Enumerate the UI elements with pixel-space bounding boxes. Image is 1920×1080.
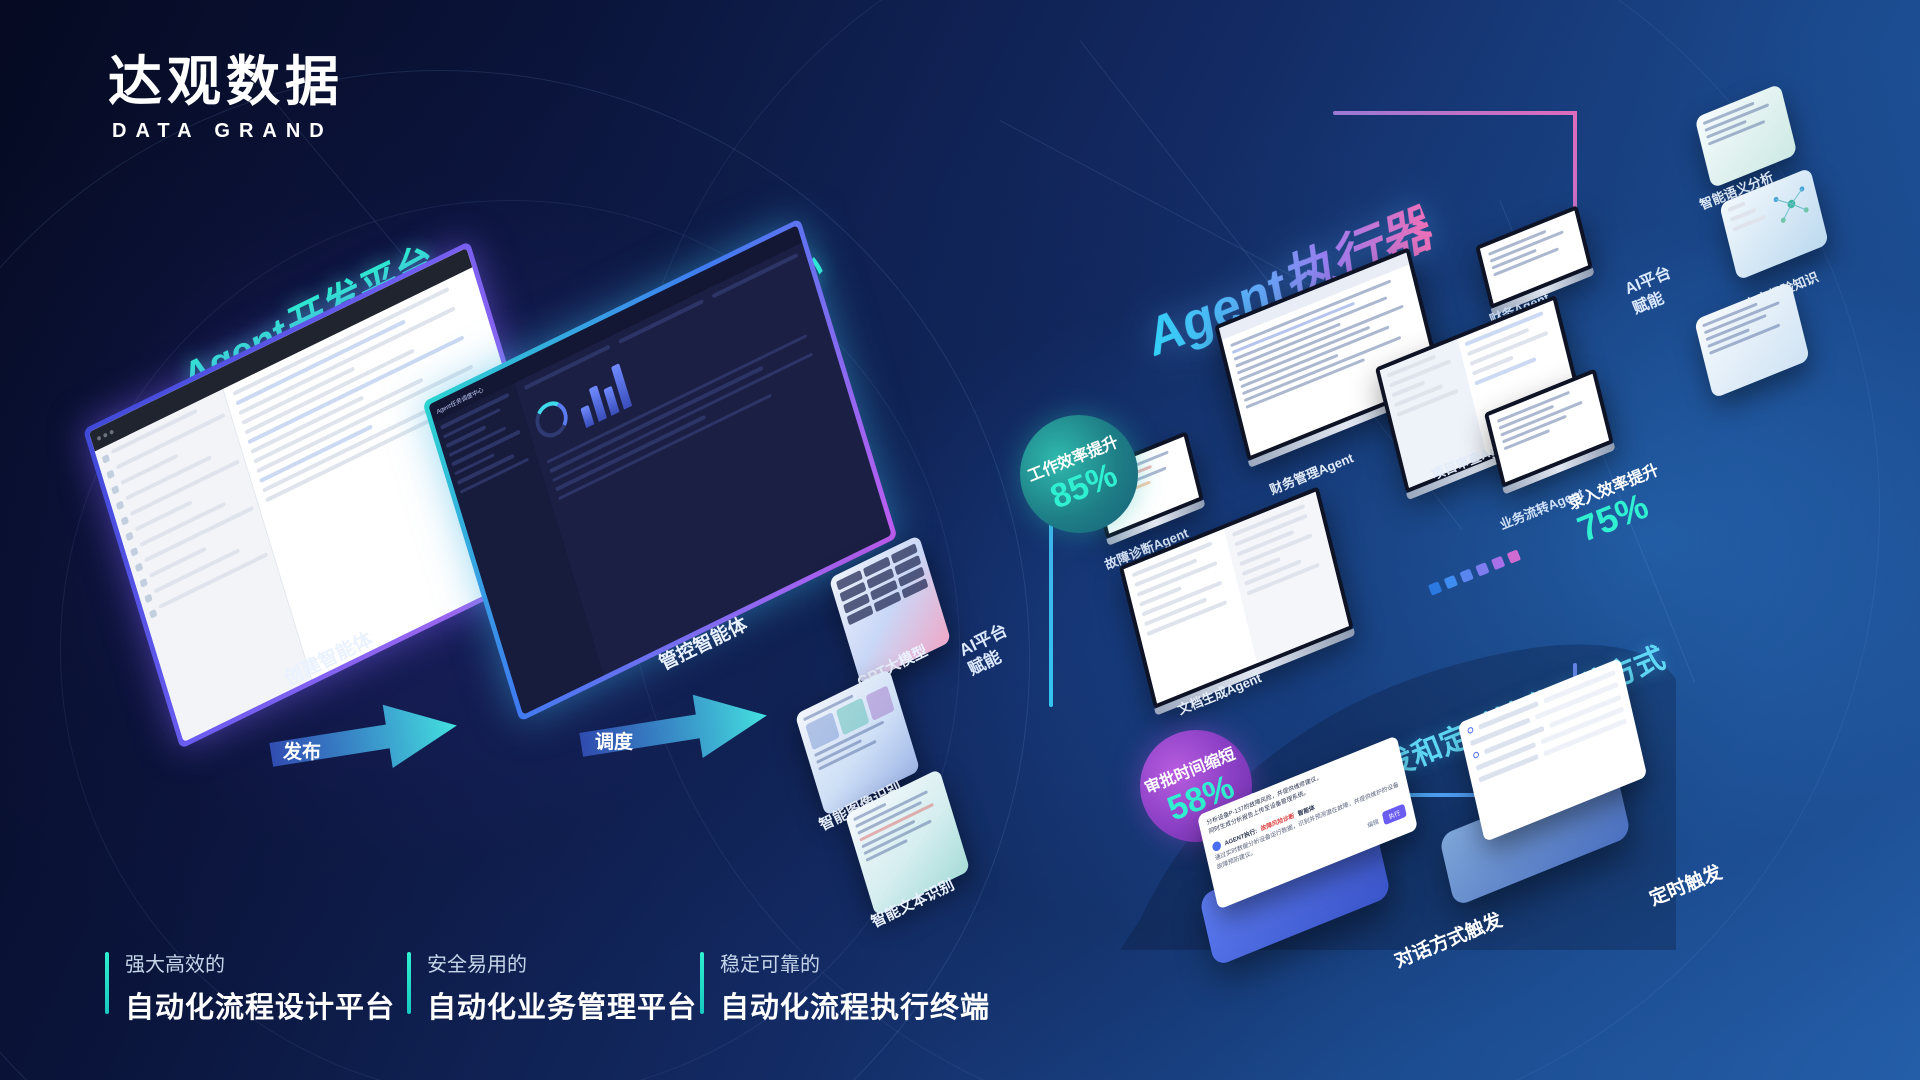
knowledge-graph-icon (1768, 177, 1815, 231)
item-icon (139, 577, 147, 587)
flow-label-publish: 发布 (283, 737, 321, 764)
brand-logo: 达观数据 DATA GRAND (108, 55, 344, 143)
radio-icon[interactable] (1467, 726, 1474, 734)
item-icon (149, 608, 157, 618)
screen-multi-agent-center: Agent任务调度中心 (422, 218, 897, 722)
footer-caption-3: 稳定可靠的 自动化流程执行终端 (700, 952, 990, 1026)
mock-panel (1695, 83, 1791, 159)
agent-avatar-icon (1211, 840, 1221, 852)
item-icon (130, 546, 138, 556)
caption-main: 自动化流程执行终端 (720, 984, 990, 1026)
brand-name-en: DATA GRAND (112, 120, 344, 143)
brand-name-cn: 达观数据 (108, 55, 344, 109)
window-dot (103, 432, 108, 438)
bar-chart (573, 361, 632, 428)
window-dot (109, 429, 114, 435)
item-icon (144, 593, 152, 603)
panel-line (1727, 201, 1745, 212)
item-icon (111, 484, 119, 494)
accent-bar (700, 952, 704, 1014)
mock-left (1727, 194, 1773, 248)
caption-text: 稳定可靠的 自动化流程执行终端 (720, 952, 990, 1026)
caption-main: 自动化流程设计平台 (125, 984, 395, 1026)
mock-image-panel (795, 669, 911, 785)
item-icon (125, 531, 133, 541)
window-dot (97, 436, 102, 442)
monitor-screen: Agent任务调度中心 (428, 225, 891, 715)
label-ai-platform-enable-right: AI平台 赋能 (1622, 264, 1682, 321)
caption-text: 强大高效的 自动化流程设计平台 (125, 952, 395, 1026)
field-label (1478, 754, 1538, 783)
radio-icon[interactable] (1473, 751, 1480, 759)
donut-chart (531, 395, 572, 443)
item-icon (135, 562, 143, 572)
caption-sub: 强大高效的 (125, 952, 395, 978)
caption-sub: 安全易用的 (427, 952, 697, 978)
monitor-bezel: Agent任务调度中心 (422, 218, 897, 722)
item-icon (120, 515, 128, 525)
chat-edit-button[interactable]: 编辑 (1366, 816, 1379, 829)
item-icon (102, 454, 110, 464)
caption-text: 安全易用的 自动化业务管理平台 (427, 952, 697, 1026)
bar (580, 404, 594, 427)
tile-semantic-analysis (1695, 83, 1798, 188)
infographic-canvas: 达观数据 DATA GRAND Agent开发平台 Multi-Agent中心 … (0, 0, 1920, 1080)
accent-bar (407, 952, 411, 1014)
caption-sub: 稳定可靠的 (720, 952, 990, 978)
footer-caption-1: 强大高效的 自动化流程设计平台 (105, 952, 395, 1026)
label-ai-platform-enable-left: AI平台 赋能 (956, 620, 1020, 681)
footer-caption-2: 安全易用的 自动化业务管理平台 (407, 952, 697, 1026)
accent-bar (105, 952, 109, 1014)
thumb (866, 685, 895, 721)
caption-main: 自动化业务管理平台 (427, 984, 697, 1026)
flow-label-dispatch: 调度 (595, 727, 633, 754)
item-icon (106, 469, 114, 479)
chat-run-button[interactable]: 执行 (1382, 803, 1407, 825)
tile-ai-panel (1694, 281, 1810, 398)
item-icon (116, 500, 124, 510)
mock-body (434, 243, 892, 715)
